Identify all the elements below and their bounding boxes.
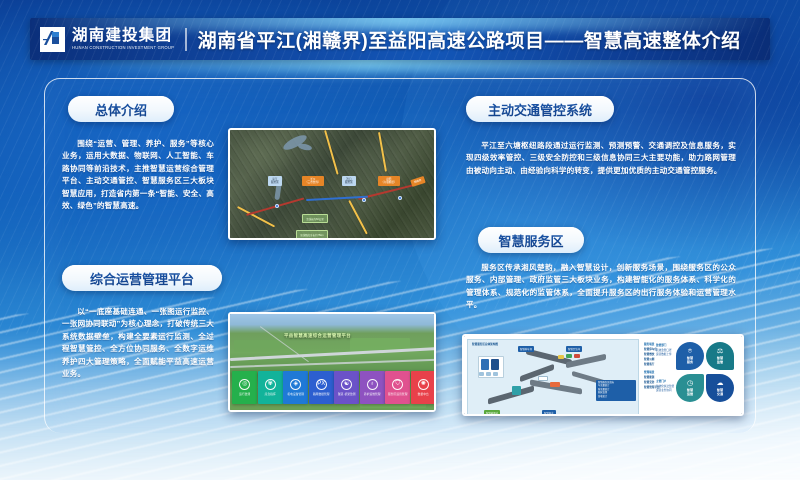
iso-detail bbox=[486, 372, 491, 376]
section-pill-service: 智慧服务区 bbox=[478, 227, 584, 253]
brand-name-en: HUNAN CONSTRUCTION INVESTMENT GROUP bbox=[72, 46, 174, 50]
service-area-diagram: 智慧服务区总体架构图 智慧停车场 智慧卫生间 智慧能源站 智慧商业 bbox=[462, 334, 744, 416]
map-distance-label: 全线路段全长约75km bbox=[296, 230, 328, 239]
platform-module-tile[interactable]: ◈机电设备管理 bbox=[283, 371, 308, 404]
module-tile-icon: ◎ bbox=[239, 379, 250, 390]
farm-field bbox=[234, 340, 280, 352]
brand-name-cn: 湖南建投集团 bbox=[72, 28, 174, 44]
section-pill-traffic-label: 主动交通管控系统 bbox=[488, 100, 592, 119]
diagram-scene-tag: 智慧卫生间 bbox=[566, 346, 582, 352]
diagram-petal-label: 智慧监管 bbox=[717, 356, 723, 364]
diagram-petal[interactable]: ☁智慧交通 bbox=[706, 374, 734, 402]
map-label-blue: 浯口服务区 bbox=[342, 176, 356, 186]
diagram-scene-tag: 智慧停车场 bbox=[518, 346, 534, 352]
section-pill-traffic: 主动交通管控系统 bbox=[466, 96, 614, 122]
diagram-petal[interactable]: ⚖智慧监管 bbox=[706, 342, 734, 370]
iso-detail bbox=[493, 372, 498, 376]
section-pill-platform: 综合运营管理平台 bbox=[62, 265, 222, 291]
iso-building-face bbox=[491, 359, 499, 370]
title-bar: 湖南建投集团 HUNAN CONSTRUCTION INVESTMENT GRO… bbox=[30, 18, 770, 60]
module-tile-label: 数据中台 bbox=[418, 392, 429, 396]
iso-detail bbox=[479, 372, 484, 376]
diagram-canvas: 智慧服务区总体架构图 智慧停车场 智慧卫生间 智慧能源站 智慧商业 bbox=[464, 336, 742, 414]
iso-vehicle bbox=[550, 382, 560, 387]
module-tile-label: 隧道·桥梁监测 bbox=[338, 392, 356, 396]
diagram-petal-icon: ⌾ bbox=[688, 348, 692, 355]
module-tile-icon: ☯ bbox=[341, 379, 352, 390]
service-paragraph: 服务区传承湘风楚韵，融入智慧设计，创新服务场景，围绕服务区的公众服务、内部管理、… bbox=[466, 262, 736, 312]
map-label-orange: 益阳（六塘枢纽） bbox=[378, 176, 400, 186]
diagram-scene-tag: 智慧商业 bbox=[542, 410, 556, 416]
module-tile-icon: PX bbox=[316, 379, 327, 390]
header-divider bbox=[185, 28, 187, 51]
diagram-petal-icon: ☁ bbox=[717, 380, 724, 387]
overview-paragraph: 围绕“运营、管理、养护、服务”等核心业务，运用大数据、物联网、人工智能、车路协同… bbox=[62, 138, 214, 212]
diagram-left-text-column: 服务场景智慧停车位智慧餐饮智慧公厕智慧客厅管理场景智慧能源智慧安防智慧管理平台 bbox=[644, 342, 660, 390]
section-pill-overview: 总体介绍 bbox=[68, 96, 174, 122]
iso-vehicle bbox=[566, 354, 572, 358]
page-title: 湖南省平江(湘赣界)至益阳高速公路项目——智慧高速整体介绍 bbox=[198, 26, 741, 53]
diagram-petal[interactable]: ◷智慧运营 bbox=[676, 374, 704, 402]
diagram-legend: 智慧服务区指标 车流量统计客流量统计能耗监测营收统计 bbox=[596, 380, 636, 401]
platform-module-tile[interactable]: PX路网数据管理 bbox=[309, 371, 334, 404]
iso-vehicle bbox=[574, 354, 580, 358]
module-tile-label: 路网数据管理 bbox=[313, 392, 330, 396]
interchange-node bbox=[362, 198, 366, 202]
interchange-node bbox=[275, 204, 279, 208]
diagram-petal-label: 智慧交通 bbox=[717, 388, 723, 396]
brand-text: 湖南建投集团 HUNAN CONSTRUCTION INVESTMENT GRO… bbox=[72, 28, 174, 51]
module-tile-label: 运行监测 bbox=[239, 392, 250, 396]
platform-module-tile[interactable]: ✺数据中台 bbox=[411, 371, 436, 404]
iso-road-segment bbox=[488, 385, 534, 404]
iso-road-segment bbox=[520, 364, 554, 382]
platform-module-tile[interactable]: ◎运行监测 bbox=[232, 371, 257, 404]
module-tile-icon: ♁ bbox=[367, 379, 378, 390]
diagram-petal[interactable]: ⌾智慧服务 bbox=[676, 342, 704, 370]
section-pill-platform-label: 综合运营管理平台 bbox=[90, 269, 194, 288]
module-tile-label: 养护运维管理 bbox=[364, 392, 381, 396]
module-tile-icon: ◈ bbox=[290, 379, 301, 390]
map-label-orange: 长沙（三市交界） bbox=[302, 176, 324, 186]
diagram-group-item: 智慧管理平台 bbox=[644, 385, 660, 390]
platform-module-tile[interactable]: ♁养护运维管理 bbox=[360, 371, 385, 404]
platform-module-tile[interactable]: ✾应急指挥 bbox=[258, 371, 283, 404]
platform-aerial-image: 平益智慧高速综合运营管理平台 ◎运行监测✾应急指挥◈机电设备管理PX路网数据管理… bbox=[228, 312, 436, 412]
route-map-image: 平江服务区 长沙（三市交界） 浯口服务区 益阳（六塘枢纽） 湘赣界 主线长约60… bbox=[228, 128, 436, 240]
module-tile-icon: ✾ bbox=[265, 379, 276, 390]
iso-building-face bbox=[481, 359, 489, 370]
diagram-scene-panel: 智慧服务区总体架构图 智慧停车场 智慧卫生间 智慧能源站 智慧商业 bbox=[467, 339, 639, 416]
section-pill-overview-label: 总体介绍 bbox=[95, 100, 147, 119]
map-distance-label: 主线长约60公里 bbox=[302, 214, 328, 223]
diagram-petal-label: 智慧运营 bbox=[687, 388, 693, 396]
iso-vehicle bbox=[538, 376, 548, 381]
diagram-scene-tag: 智慧能源站 bbox=[484, 410, 500, 416]
diagram-legend-lines: 车流量统计客流量统计能耗监测营收统计 bbox=[598, 385, 634, 399]
aerial-overlay-title: 平益智慧高速综合运营管理平台 bbox=[284, 333, 351, 339]
iso-vehicle bbox=[558, 355, 564, 359]
iso-road-segment bbox=[566, 354, 606, 369]
module-tile-icon: ✺ bbox=[418, 379, 429, 390]
diagram-title: 智慧服务区总体架构图 bbox=[472, 342, 498, 346]
company-logo-icon bbox=[40, 27, 65, 52]
brand-logo: 湖南建投集团 HUNAN CONSTRUCTION INVESTMENT GRO… bbox=[40, 27, 174, 52]
iso-kiosk bbox=[512, 386, 521, 395]
diagram-petal-icon: ◷ bbox=[687, 380, 693, 387]
platform-module-tile[interactable]: ⛉服务区运营管理 bbox=[385, 371, 410, 404]
diagram-petal-label: 智慧服务 bbox=[687, 356, 693, 364]
diagram-petal-icon: ⚖ bbox=[717, 348, 723, 355]
module-tile-label: 应急指挥 bbox=[265, 392, 276, 396]
interchange-node bbox=[398, 196, 402, 200]
section-pill-service-label: 智慧服务区 bbox=[498, 231, 563, 250]
module-tile-label: 机电设备管理 bbox=[287, 392, 304, 396]
module-tile-label: 服务区运营管理 bbox=[388, 392, 408, 396]
platform-module-tile[interactable]: ☯隧道·桥梁监测 bbox=[334, 371, 359, 404]
module-tile-icon: ⛉ bbox=[392, 379, 403, 390]
platform-paragraph: 以“一底座基础连通、一张图运行监控、一张网协同联动”为核心理念，打破传统三大系统… bbox=[62, 306, 214, 380]
diagram-legend-line: 营收统计 bbox=[598, 396, 634, 399]
map-label-blue: 平江服务区 bbox=[268, 176, 282, 186]
terrain-texture bbox=[230, 130, 434, 238]
traffic-paragraph: 平江至六塘枢纽路段通过运行监测、预测预警、交通调控及信息服务，实现四级效率管控、… bbox=[466, 140, 736, 177]
